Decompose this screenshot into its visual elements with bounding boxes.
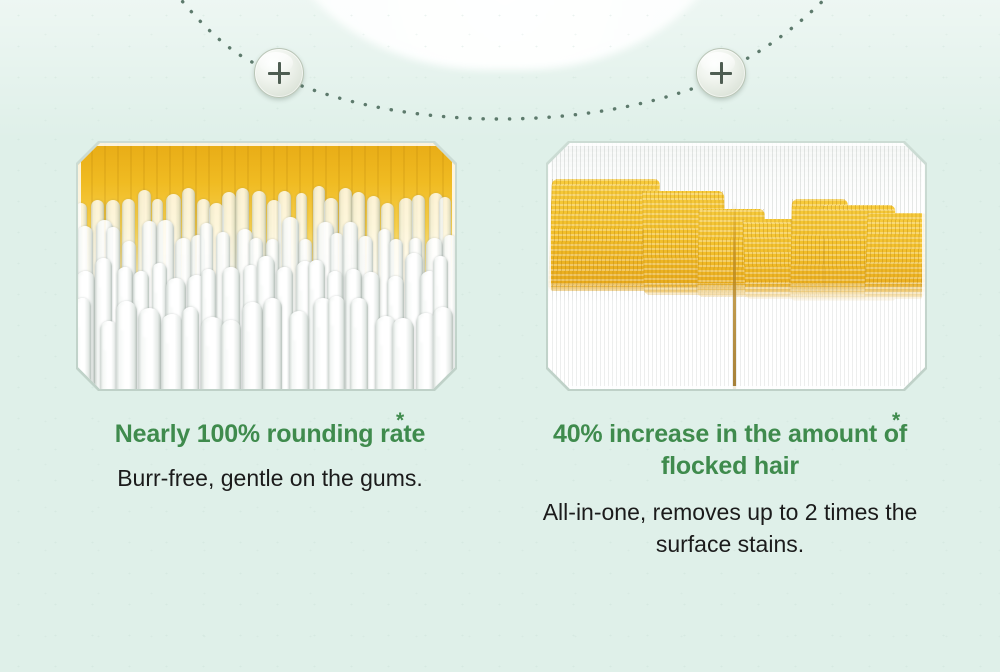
bristle [161,314,183,390]
product-image-left [78,143,455,389]
footnote-asterisk-right: * [892,409,900,433]
bristle [263,298,282,389]
plus-badge-right[interactable] [696,48,746,98]
product-image-right [548,143,925,389]
bristle [138,308,161,389]
dotted-connector-curve [0,0,1000,160]
bristle [100,321,118,389]
bristle [116,301,137,389]
headline-right: 40% increase in the amount of flocked ha… [520,418,940,482]
bristle [350,298,368,389]
subline-left: Burr-free, gentle on the gums. [60,462,480,494]
front-row-texture [548,283,925,389]
flock-white-front-row [548,283,925,389]
bristle [328,296,345,389]
infographic-stage: Nearly 100% rounding rate Burr-free, gen… [0,0,1000,672]
plus-icon [710,62,732,84]
caption-column-left: Nearly 100% rounding rate Burr-free, gen… [60,418,480,494]
plus-icon [268,62,290,84]
bristle [221,320,241,389]
bristle [289,311,309,390]
bristle-illustration-flocked [548,143,925,389]
caption-column-right: 40% increase in the amount of flocked ha… [520,418,940,560]
flock-seam [733,202,736,389]
subline-right: All-in-one, removes up to 2 times the su… [520,496,940,560]
bristle [242,302,263,390]
footnote-asterisk-left: * [396,409,404,433]
headline-left: Nearly 100% rounding rate [60,418,480,450]
bristle [182,307,199,389]
bristle [392,318,415,389]
plus-badge-left[interactable] [254,48,304,98]
bristle-illustration-rounded-tips [78,143,455,389]
flock-patch-group [548,143,925,389]
